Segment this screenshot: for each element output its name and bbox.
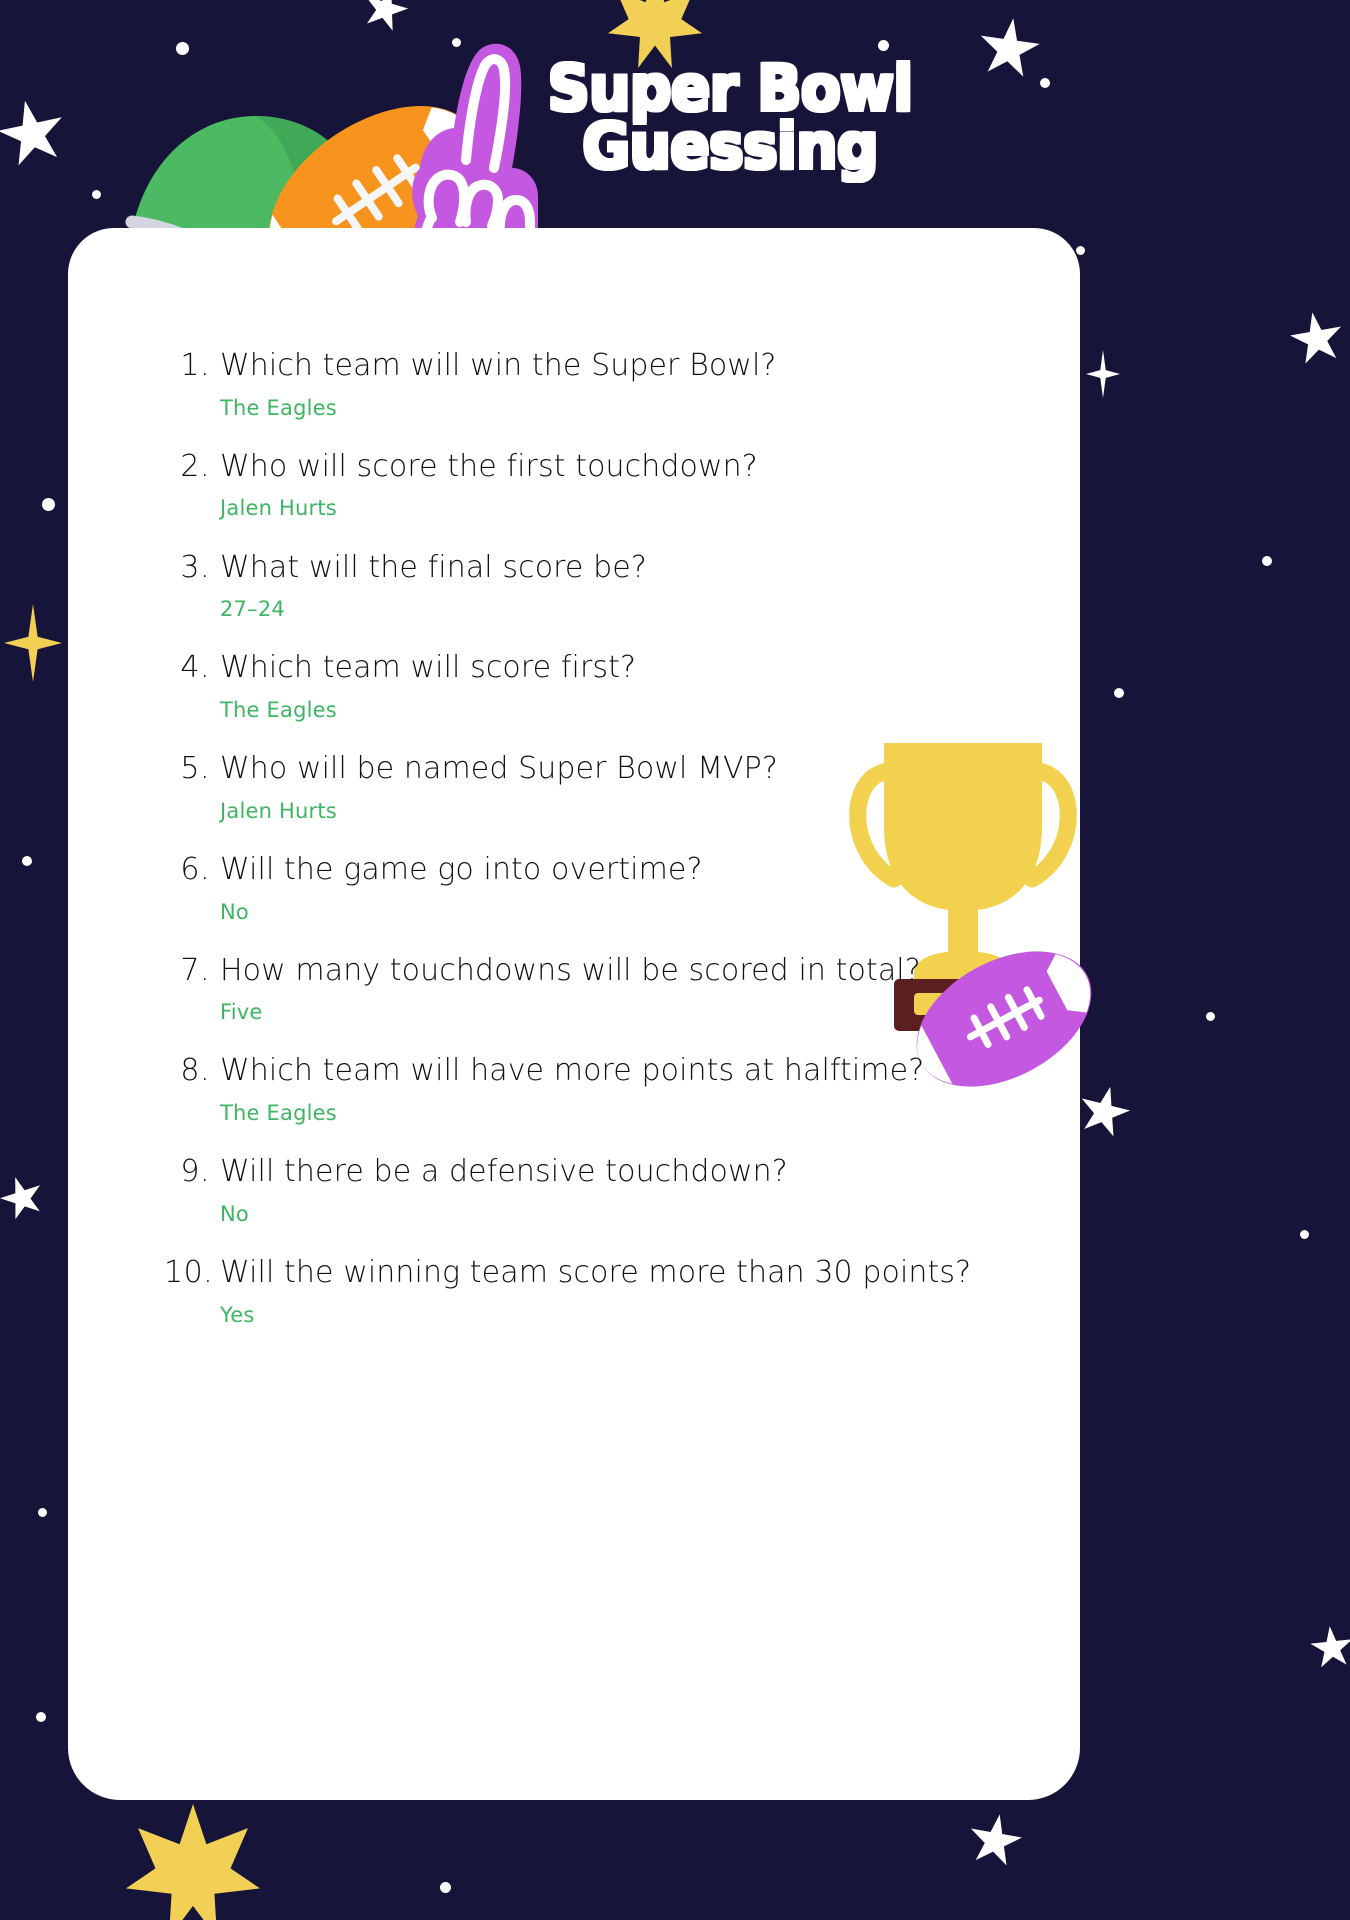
answer-text[interactable]: The Eagles xyxy=(220,1101,994,1126)
question-text: Will the game go into overtime? xyxy=(220,852,994,889)
question-text: Will there be a defensive touchdown? xyxy=(220,1154,994,1191)
question-number: 6. xyxy=(164,852,220,925)
star-icon xyxy=(126,1804,260,1920)
star-icon xyxy=(0,94,72,175)
question-item: 3. What will the final score be? 27–24 xyxy=(164,550,994,623)
question-item: 1. Which team will win the Super Bowl? T… xyxy=(164,348,994,421)
question-item: 5. Who will be named Super Bowl MVP? Jal… xyxy=(164,751,994,824)
page-title: Super Bowl Guessing xyxy=(516,60,944,176)
star-icon xyxy=(1308,1624,1350,1672)
question-item: 2. Who will score the first touchdown? J… xyxy=(164,449,994,522)
answer-text[interactable]: The Eagles xyxy=(220,698,994,723)
question-item: 7. How many touchdowns will be scored in… xyxy=(164,953,994,1026)
dot-icon xyxy=(440,1882,451,1893)
answer-text[interactable]: Jalen Hurts xyxy=(220,799,994,824)
question-number: 4. xyxy=(164,650,220,723)
star-icon xyxy=(974,14,1044,84)
title-line-2: Guessing xyxy=(516,118,944,176)
question-number: 9. xyxy=(164,1154,220,1227)
star-icon xyxy=(964,1810,1027,1873)
question-text: Which team will win the Super Bowl? xyxy=(220,348,994,385)
dot-icon xyxy=(1040,78,1050,88)
star-icon xyxy=(357,0,414,37)
question-text: Who will be named Super Bowl MVP? xyxy=(220,751,994,788)
question-item: 8. Which team will have more points at h… xyxy=(164,1053,994,1126)
answer-text[interactable]: Five xyxy=(220,1000,994,1025)
question-number: 5. xyxy=(164,751,220,824)
question-item: 10. Will the winning team score more tha… xyxy=(164,1255,994,1328)
dot-icon xyxy=(1300,1230,1309,1239)
dot-icon xyxy=(1076,246,1085,255)
question-number: 3. xyxy=(164,550,220,623)
dot-icon xyxy=(1206,1012,1215,1021)
poster-root: Super Bowl Guessing xyxy=(0,0,1350,1920)
star-icon xyxy=(0,1170,50,1225)
question-text: Will the winning team score more than 30… xyxy=(220,1255,994,1292)
question-text: Who will score the first touchdown? xyxy=(220,449,994,486)
answer-text[interactable]: The Eagles xyxy=(220,396,994,421)
answer-text[interactable]: No xyxy=(220,900,994,925)
dot-icon xyxy=(36,1712,46,1722)
question-number: 1. xyxy=(164,348,220,421)
question-item: 9. Will there be a defensive touchdown? … xyxy=(164,1154,994,1227)
answer-text[interactable]: Jalen Hurts xyxy=(220,496,994,521)
question-item: 6. Will the game go into overtime? No xyxy=(164,852,994,925)
dot-icon xyxy=(1262,556,1272,566)
question-text: What will the final score be? xyxy=(220,550,994,587)
question-text: Which team will have more points at half… xyxy=(220,1053,994,1090)
questions-card: 1. Which team will win the Super Bowl? T… xyxy=(68,228,1080,1800)
question-item: 4. Which team will score first? The Eagl… xyxy=(164,650,994,723)
question-number: 8. xyxy=(164,1053,220,1126)
question-number: 7. xyxy=(164,953,220,1026)
star-icon xyxy=(1286,308,1349,371)
answer-text[interactable]: No xyxy=(220,1202,994,1227)
dot-icon xyxy=(878,40,889,51)
answer-text[interactable]: 27–24 xyxy=(220,597,994,622)
question-text: How many touchdowns will be scored in to… xyxy=(220,953,994,990)
dot-icon xyxy=(42,498,55,511)
star-icon xyxy=(1086,350,1120,398)
question-text: Which team will score first? xyxy=(220,650,994,687)
question-list: 1. Which team will win the Super Bowl? T… xyxy=(164,348,994,1356)
dot-icon xyxy=(1114,688,1124,698)
star-icon xyxy=(4,604,62,682)
question-number: 2. xyxy=(164,449,220,522)
answer-text[interactable]: Yes xyxy=(220,1303,994,1328)
dot-icon xyxy=(22,856,32,866)
question-number: 10. xyxy=(164,1255,220,1328)
dot-icon xyxy=(38,1508,47,1517)
